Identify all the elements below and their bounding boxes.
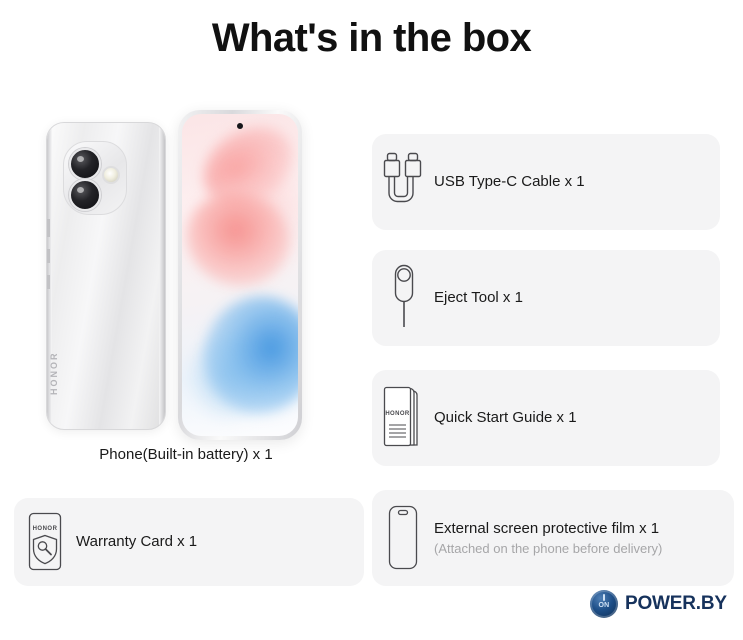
item-card-quick-start-guide[interactable]: HONOR Quick Start Guide x 1 xyxy=(372,370,720,466)
phone-images: HONOR xyxy=(8,110,364,440)
eject-tool-icon xyxy=(372,263,434,333)
phone-back-image: HONOR xyxy=(46,122,166,430)
phone-showcase: HONOR Phone(Built-in battery) x 1 xyxy=(8,110,364,470)
powerby-watermark[interactable]: ON POWER.BY xyxy=(585,586,735,622)
screen-protective-film-icon xyxy=(372,503,434,573)
phone-caption: Phone(Built-in battery) x 1 xyxy=(8,446,364,463)
guide-brand-text: HONOR xyxy=(385,411,410,417)
item-label: Eject Tool x 1 xyxy=(434,289,712,308)
phone-right-edge xyxy=(159,123,165,429)
item-card-warranty-card[interactable]: HONOR Warranty Card x 1 xyxy=(14,498,364,586)
camera-flash-icon xyxy=(102,166,120,184)
power-button-icon: ON xyxy=(590,590,618,618)
item-text: Quick Start Guide x 1 xyxy=(434,409,720,428)
page-title: What's in the box xyxy=(0,16,743,61)
watermark-logo-text: ON xyxy=(598,602,609,609)
warranty-brand-text: HONOR xyxy=(33,526,58,532)
whats-in-the-box-page: What's in the box HONOR xyxy=(0,0,743,640)
item-label: Warranty Card x 1 xyxy=(76,533,356,552)
front-camera-icon xyxy=(237,123,243,129)
item-text: External screen protective film x 1 (Att… xyxy=(434,520,734,557)
power-symbol-icon xyxy=(603,594,605,601)
warranty-card-icon: HONOR xyxy=(14,511,76,573)
watermark-text: POWER.BY xyxy=(625,593,727,615)
phone-front-image xyxy=(178,110,302,440)
item-card-usb-cable[interactable]: USB Type-C Cable x 1 xyxy=(372,134,720,230)
usb-type-c-cable-icon xyxy=(372,151,434,213)
item-card-screen-protective-film[interactable]: External screen protective film x 1 (Att… xyxy=(372,490,734,586)
phone-back-brand: HONOR xyxy=(49,352,59,396)
item-card-eject-tool[interactable]: Eject Tool x 1 xyxy=(372,250,720,346)
item-label: Quick Start Guide x 1 xyxy=(434,409,712,428)
phone-side-buttons xyxy=(47,219,50,281)
item-label: USB Type-C Cable x 1 xyxy=(434,173,712,192)
phone-screen xyxy=(182,114,298,436)
camera-lens-secondary-icon xyxy=(69,179,101,211)
item-sublabel: (Attached on the phone before delivery) xyxy=(434,541,726,556)
item-label: External screen protective film x 1 xyxy=(434,520,726,539)
item-text: Eject Tool x 1 xyxy=(434,289,720,308)
quick-start-guide-icon: HONOR xyxy=(372,385,434,451)
camera-lens-main-icon xyxy=(69,148,101,180)
camera-bump xyxy=(63,141,127,215)
item-text: USB Type-C Cable x 1 xyxy=(434,173,720,192)
item-text: Warranty Card x 1 xyxy=(76,533,364,552)
